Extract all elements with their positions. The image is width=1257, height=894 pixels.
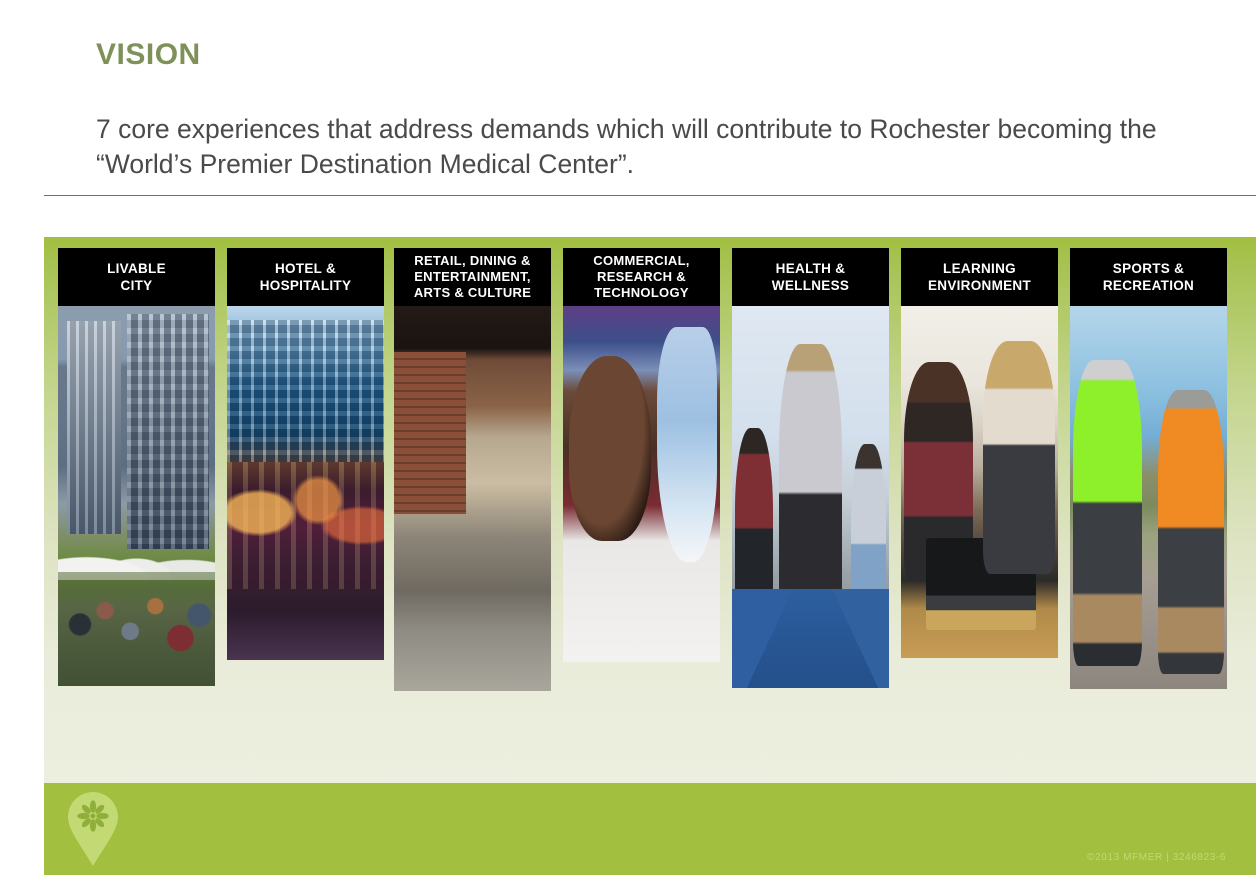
copyright-note: ©2013 MFMER | 3246823-6 xyxy=(1087,852,1226,863)
header-line: HOSPITALITY xyxy=(260,277,352,294)
header-line: COMMERCIAL, xyxy=(593,253,689,269)
hotel-exterior-night-photo xyxy=(227,306,384,660)
column-header-commercial-research: COMMERCIAL, RESEARCH & TECHNOLOGY xyxy=(563,248,720,306)
header-line: LEARNING xyxy=(943,260,1016,277)
city-park-skyline-photo xyxy=(58,306,215,686)
lab-researcher-pipette-photo xyxy=(563,306,720,662)
column-header-livable-city: LIVABLE CITY xyxy=(58,248,215,306)
outdoor-yoga-class-photo xyxy=(732,306,889,688)
column-header-sports-recreation: SPORTS & RECREATION xyxy=(1070,248,1227,306)
photo-detail xyxy=(851,444,886,643)
header-line: CITY xyxy=(121,277,153,294)
header-line: LIVABLE xyxy=(107,260,166,277)
experience-columns: LIVABLE CITY HOTEL & HOSPITALITY xyxy=(44,237,1256,783)
column-header-retail-dining: RETAIL, DINING & ENTERTAINMENT, ARTS & C… xyxy=(394,248,551,306)
slide-subtitle: 7 core experiences that address demands … xyxy=(96,112,1226,182)
title-divider xyxy=(44,195,1256,196)
column-header-learning-environment: LEARNING ENVIRONMENT xyxy=(901,248,1058,306)
column-header-health-wellness: HEALTH & WELLNESS xyxy=(732,248,889,306)
students-with-laptop-photo xyxy=(901,306,1058,658)
experience-column-retail-dining[interactable]: RETAIL, DINING & ENTERTAINMENT, ARTS & C… xyxy=(394,248,551,691)
header-line: RESEARCH & xyxy=(597,269,686,285)
page-title: VISION xyxy=(96,38,201,72)
column-photo-hotel-hospitality xyxy=(227,306,384,660)
header-line: HOTEL & xyxy=(275,260,336,277)
experience-column-learning-environment[interactable]: LEARNING ENVIRONMENT xyxy=(901,248,1058,658)
photo-detail xyxy=(926,538,1036,630)
column-header-hotel-hospitality: HOTEL & HOSPITALITY xyxy=(227,248,384,306)
column-photo-commercial-research xyxy=(563,306,720,662)
vision-slide: VISION 7 core experiences that address d… xyxy=(0,0,1257,894)
experience-column-sports-recreation[interactable]: SPORTS & RECREATION xyxy=(1070,248,1227,689)
column-photo-health-wellness xyxy=(732,306,889,688)
footer-band: ©2013 MFMER | 3246823-6 xyxy=(44,783,1256,875)
destination-medical-center-pin-logo xyxy=(68,792,118,866)
header-line: TECHNOLOGY xyxy=(594,285,689,301)
header-line: ENTERTAINMENT, xyxy=(414,269,531,285)
header-line: ENVIRONMENT xyxy=(928,277,1031,294)
experience-column-hotel-hospitality[interactable]: HOTEL & HOSPITALITY xyxy=(227,248,384,660)
header-line: WELLNESS xyxy=(772,277,849,294)
two-runners-outdoors-photo xyxy=(1070,306,1227,689)
header-line: HEALTH & xyxy=(776,260,846,277)
header-line: RETAIL, DINING & xyxy=(414,253,531,269)
header-line: ARTS & CULTURE xyxy=(414,285,531,301)
header-line: RECREATION xyxy=(1103,277,1194,294)
photo-detail xyxy=(735,428,773,634)
experience-column-livable-city[interactable]: LIVABLE CITY xyxy=(58,248,215,686)
column-photo-sports-recreation xyxy=(1070,306,1227,689)
column-photo-learning-environment xyxy=(901,306,1058,658)
header-line: SPORTS & xyxy=(1113,260,1184,277)
column-photo-retail-dining xyxy=(394,306,551,691)
sidewalk-cafe-couple-photo xyxy=(394,306,551,691)
column-photo-livable-city xyxy=(58,306,215,686)
photo-detail xyxy=(58,572,215,686)
experience-column-commercial-research[interactable]: COMMERCIAL, RESEARCH & TECHNOLOGY xyxy=(563,248,720,662)
experience-panel: LIVABLE CITY HOTEL & HOSPITALITY xyxy=(44,237,1256,783)
experience-column-health-wellness[interactable]: HEALTH & WELLNESS xyxy=(732,248,889,688)
